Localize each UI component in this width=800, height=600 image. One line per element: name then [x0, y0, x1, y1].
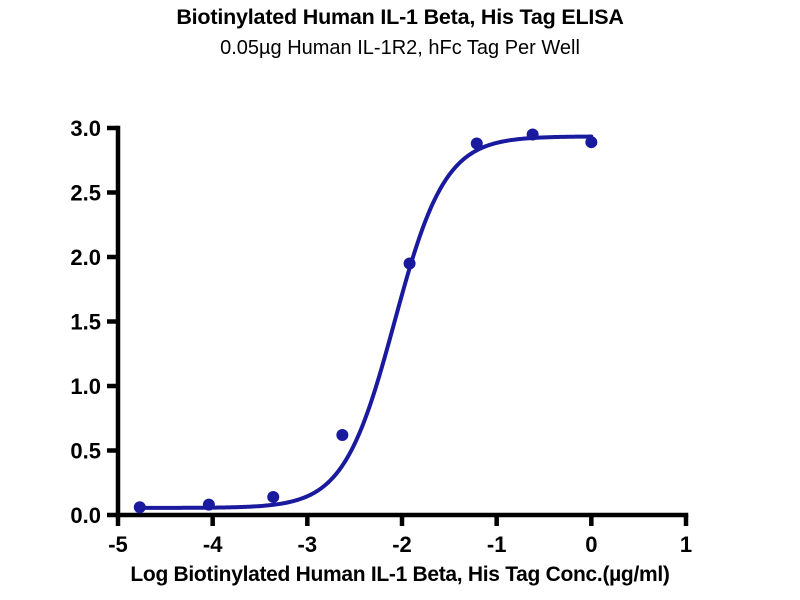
data-point-marker: [527, 128, 539, 140]
data-point-marker: [404, 257, 416, 269]
y-tick-label: 3.0: [70, 116, 101, 141]
x-tick-label: 1: [680, 532, 692, 557]
x-tick-label: -5: [108, 532, 128, 557]
x-tick-label: -2: [392, 532, 412, 557]
curve-path: [140, 137, 592, 508]
x-tick-label: -4: [203, 532, 223, 557]
data-point-marker: [203, 499, 215, 511]
y-axis-ticks: 0.00.51.01.52.02.53.0: [70, 116, 118, 528]
data-point-marker: [336, 429, 348, 441]
data-point-marker: [134, 501, 146, 513]
y-tick-label: 1.0: [70, 374, 101, 399]
data-point-marker: [585, 136, 597, 148]
axes: [118, 128, 686, 515]
y-tick-label: 0.0: [70, 503, 101, 528]
chart-figure: Biotinylated Human IL-1 Beta, His Tag EL…: [0, 0, 800, 600]
x-axis-ticks: -5-4-3-2-101: [108, 515, 692, 557]
data-point-marker: [471, 137, 483, 149]
y-tick-label: 2.5: [70, 181, 101, 206]
x-tick-label: 0: [585, 532, 597, 557]
x-tick-label: -3: [298, 532, 318, 557]
y-tick-label: 2.0: [70, 245, 101, 270]
fitted-curve: [140, 137, 592, 508]
y-tick-label: 0.5: [70, 439, 101, 464]
data-point-marker: [267, 491, 279, 503]
y-tick-label: 1.5: [70, 310, 101, 335]
x-tick-label: -1: [487, 532, 507, 557]
data-points: [134, 128, 598, 513]
plot-area: 0.00.51.01.52.02.53.0 -5-4-3-2-101: [0, 0, 800, 600]
